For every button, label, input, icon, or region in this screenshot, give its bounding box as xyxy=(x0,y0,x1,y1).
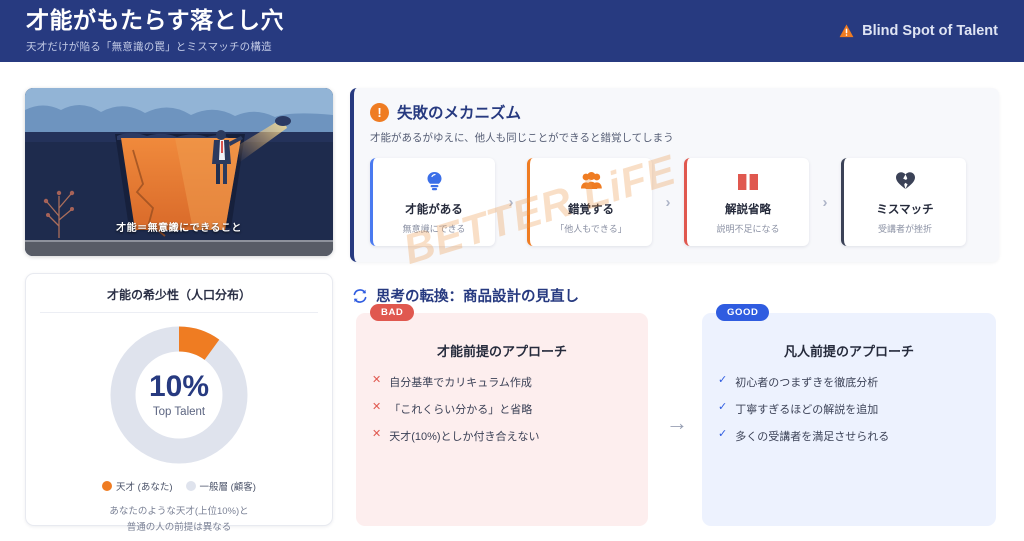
illustration-caption: 才能＝無意識にできること xyxy=(25,219,333,234)
good-approach-panel: GOOD 凡人前提のアプローチ ✓ 初心者のつまずきを徹底分析 ✓ 丁寧すぎるほ… xyxy=(702,313,996,526)
check-mark-icon: ✓ xyxy=(718,428,727,442)
good-item-list: ✓ 初心者のつまずきを徹底分析 ✓ 丁寧すぎるほどの解説を追加 ✓ 多くの受講者… xyxy=(718,374,980,444)
lightbulb-icon xyxy=(426,170,443,192)
mechanism-step-omission[interactable]: 解説省略 説明不足になる xyxy=(684,158,809,246)
mechanism-step-mismatch[interactable]: ミスマッチ 受講者が挫折 xyxy=(841,158,966,246)
legend-item-general: 一般層 (顧客) xyxy=(186,479,256,493)
step-separator-2-icon: › xyxy=(652,194,684,211)
legend-swatch-gray-icon xyxy=(186,481,196,491)
mechanism-header: ! 失敗のメカニズム xyxy=(370,101,983,123)
good-badge: GOOD xyxy=(716,304,769,321)
warning-triangle-icon xyxy=(839,24,854,38)
people-group-icon xyxy=(580,170,603,192)
chart-note: あなたのような天才(上位10%)と 普通の人の前提は異なる xyxy=(40,504,318,535)
bad-item-list: ✕ 自分基準でカリキュラム作成 ✕ 「これくらい分かる」と省略 ✕ 天才(10%… xyxy=(372,374,632,444)
mechanism-step-talent[interactable]: 才能がある 無意識にできる xyxy=(370,158,495,246)
mechanism-steps: 才能がある 無意識にできる › 錯覚する 「他人もできる」 xyxy=(370,158,983,246)
chart-note-line2: 普通の人の前提は異なる xyxy=(127,522,232,533)
step-title: 錯覚する xyxy=(568,201,614,217)
transform-title: 思考の転換：商品設計の見直し xyxy=(376,285,579,306)
header-badge-label: Blind Spot of Talent xyxy=(862,23,998,39)
list-item: ✕ 天才(10%)としか付き合えない xyxy=(372,428,632,444)
bad-badge: BAD xyxy=(370,304,414,321)
legend-swatch-orange-icon xyxy=(102,481,112,491)
legend-item-genius: 天才 (あなた) xyxy=(102,479,172,493)
cross-mark-icon: ✕ xyxy=(372,401,381,415)
step-subtitle: 受講者が挫折 xyxy=(878,222,932,235)
hero-illustration: 才能＝無意識にできること xyxy=(25,88,333,256)
step-title: 才能がある xyxy=(405,201,463,217)
header-text-block: 才能がもたらす落とし穴 天才だけが陥る「無意識の罠」とミスマッチの構造 xyxy=(26,8,284,53)
list-item: ✓ 初心者のつまずきを徹底分析 xyxy=(718,374,980,390)
list-item-text: 天才(10%)としか付き合えない xyxy=(389,428,539,444)
list-item: ✓ 多くの受講者を満足させられる xyxy=(718,428,980,444)
list-item-text: 丁寧すぎるほどの解説を追加 xyxy=(735,401,878,417)
good-panel-title: 凡人前提のアプローチ xyxy=(718,341,980,360)
open-book-icon xyxy=(737,170,759,192)
donut-sublabel: Top Talent xyxy=(153,406,205,418)
broken-heart-icon xyxy=(895,170,916,192)
header-badge: Blind Spot of Talent xyxy=(839,23,998,39)
refresh-sync-icon xyxy=(352,288,368,304)
page-title: 才能がもたらす落とし穴 xyxy=(26,8,284,33)
bad-panel-title: 才能前提のアプローチ xyxy=(372,341,632,360)
page-root: 才能がもたらす落とし穴 天才だけが陥る「無意識の罠」とミスマッチの構造 Blin… xyxy=(0,0,1024,541)
list-item-text: 多くの受講者を満足させられる xyxy=(735,428,889,444)
bad-approach-panel: BAD 才能前提のアプローチ ✕ 自分基準でカリキュラム作成 ✕ 「これくらい分… xyxy=(356,313,648,526)
failure-mechanism-panel: ! 失敗のメカニズム 才能があるがゆえに、他人も同じことができると錯覚してしまう… xyxy=(350,88,999,262)
talent-rarity-card: 才能の希少性（人口分布） 10% Top Talent 天才 (あなた) 一般層… xyxy=(25,273,333,526)
transition-arrow-icon: → xyxy=(659,410,695,436)
mechanism-step-illusion[interactable]: 錯覚する 「他人もできる」 xyxy=(527,158,652,246)
list-item-text: 初心者のつまずきを徹底分析 xyxy=(735,374,878,390)
cross-mark-icon: ✕ xyxy=(372,428,381,442)
step-subtitle: 無意識にできる xyxy=(403,222,466,235)
mechanism-subtitle: 才能があるがゆえに、他人も同じことができると錯覚してしまう xyxy=(370,130,983,145)
donut-center-label: 10% Top Talent xyxy=(104,320,254,470)
mechanism-title: 失敗のメカニズム xyxy=(397,101,521,123)
donut-chart: 10% Top Talent xyxy=(104,320,254,470)
step-subtitle: 説明不足になる xyxy=(716,222,779,235)
step-subtitle: 「他人もできる」 xyxy=(555,222,626,235)
legend-label-genius: 天才 (あなた) xyxy=(116,479,172,493)
legend-label-general: 一般層 (顧客) xyxy=(200,479,256,493)
step-separator-1-icon: › xyxy=(495,194,527,211)
page-header: 才能がもたらす落とし穴 天才だけが陥る「無意識の罠」とミスマッチの構造 Blin… xyxy=(0,0,1024,62)
chart-legend: 天才 (あなた) 一般層 (顧客) xyxy=(40,479,318,493)
step-title: 解説省略 xyxy=(725,201,771,217)
list-item-text: 「これくらい分かる」と省略 xyxy=(389,401,532,417)
list-item: ✕ 自分基準でカリキュラム作成 xyxy=(372,374,632,390)
step-separator-3-icon: › xyxy=(809,194,841,211)
transform-header: 思考の転換：商品設計の見直し xyxy=(352,285,579,306)
page-subtitle: 天才だけが陥る「無意識の罠」とミスマッチの構造 xyxy=(26,39,284,54)
check-mark-icon: ✓ xyxy=(718,374,727,388)
donut-percent: 10% xyxy=(149,372,209,402)
chart-note-line1: あなたのような天才(上位10%)と xyxy=(109,506,248,517)
chart-title: 才能の希少性（人口分布） xyxy=(40,286,318,313)
list-item-text: 自分基準でカリキュラム作成 xyxy=(389,374,532,390)
list-item: ✓ 丁寧すぎるほどの解説を追加 xyxy=(718,401,980,417)
step-title: ミスマッチ xyxy=(876,201,933,217)
list-item: ✕ 「これくらい分かる」と省略 xyxy=(372,401,632,417)
cross-mark-icon: ✕ xyxy=(372,374,381,388)
exclamation-circle-icon: ! xyxy=(370,103,389,122)
check-mark-icon: ✓ xyxy=(718,401,727,415)
